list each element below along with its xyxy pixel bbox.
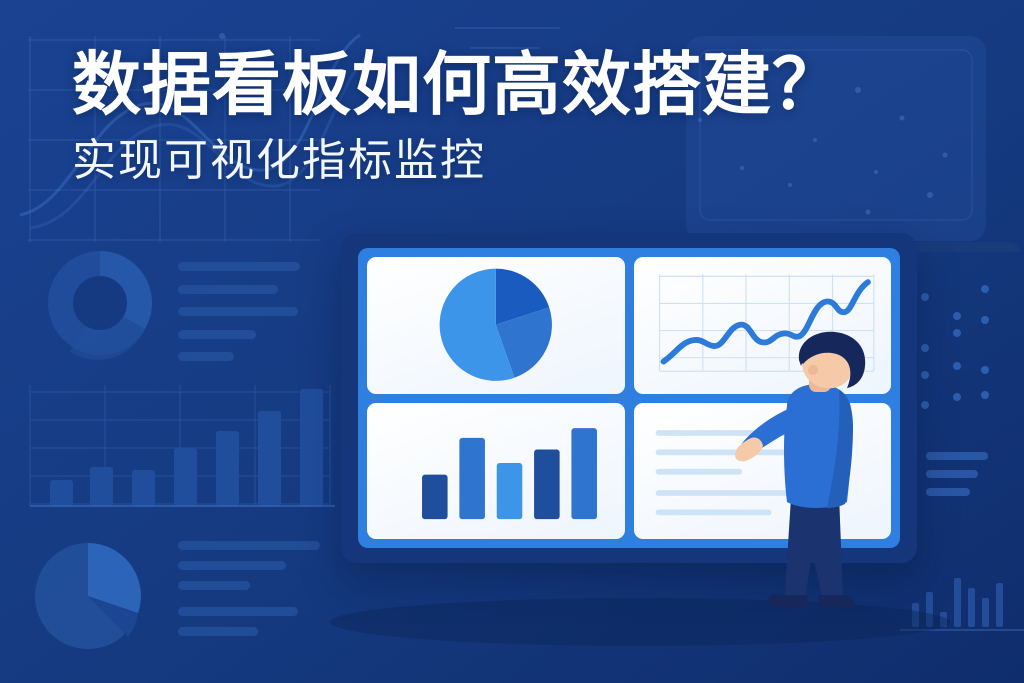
page-subtitle: 实现可视化指标监控 [72,137,842,185]
bar-chart-panel[interactable] [367,403,625,540]
bar-2 [459,437,485,518]
page-title: 数据看板如何高效搭建？ [72,48,842,123]
bar-3 [497,463,523,519]
person-shoe-left [769,594,807,608]
bar-5 [571,428,597,519]
bar-4 [534,449,560,519]
person-hand [735,437,763,461]
poster-canvas: 数据看板如何高效搭建？ 实现可视化指标监控 [0,0,1024,683]
bar-chart-bars [422,428,597,519]
bar-1 [422,474,448,519]
person-shoe-right [819,595,855,608]
pie-chart [367,257,625,394]
person-illustration [735,330,915,650]
person-ear [808,365,818,375]
title-block: 数据看板如何高效搭建？ 实现可视化指标监控 [72,48,842,185]
text-line-3 [655,468,741,474]
bar-chart [367,403,625,540]
background-pie-bottom-left [35,543,141,649]
pie-chart-panel[interactable] [367,257,625,394]
